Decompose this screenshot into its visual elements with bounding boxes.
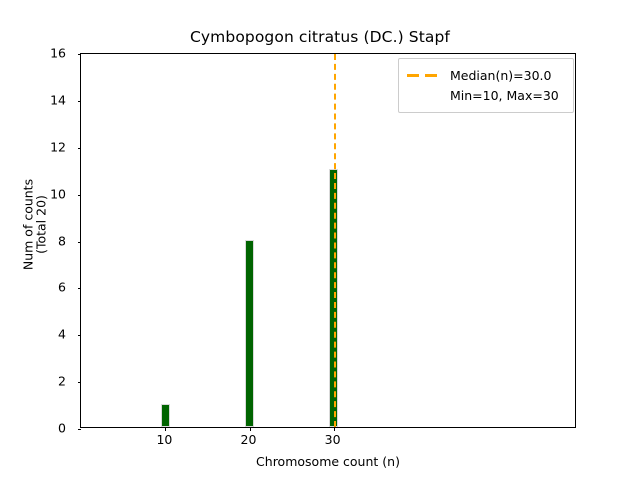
legend-entry-minmax: Min=10, Max=30 xyxy=(407,85,565,105)
y-tick-labels: 0 2 4 6 8 10 12 14 16 xyxy=(0,53,74,428)
y-tick-label: 14 xyxy=(50,92,66,107)
median-line xyxy=(334,54,336,427)
x-tick-labels: 10 20 30 xyxy=(80,432,576,452)
x-tick xyxy=(334,427,335,431)
dashed-line-icon xyxy=(407,68,441,82)
legend-entry-median: Median(n)=30.0 xyxy=(407,65,565,85)
x-tick-label: 20 xyxy=(241,432,257,447)
legend-label-median: Median(n)=30.0 xyxy=(450,68,551,83)
chart-figure: Cymbopogon citratus (DC.) Stapf Num of c… xyxy=(0,0,640,480)
y-tick-label: 12 xyxy=(50,139,66,154)
y-tick-label: 8 xyxy=(58,233,66,248)
x-tick xyxy=(165,427,166,431)
y-tick xyxy=(78,429,82,430)
legend: Median(n)=30.0 Min=10, Max=30 xyxy=(398,58,574,113)
y-tick-label: 2 xyxy=(58,374,66,389)
y-tick-label: 16 xyxy=(50,46,66,61)
x-tick-label: 30 xyxy=(325,432,341,447)
y-tick-label: 10 xyxy=(50,186,66,201)
x-tick-label: 10 xyxy=(156,432,172,447)
y-tick-label: 6 xyxy=(58,280,66,295)
legend-label-minmax: Min=10, Max=30 xyxy=(450,88,559,103)
x-tick xyxy=(250,427,251,431)
chart-title: Cymbopogon citratus (DC.) Stapf xyxy=(0,28,640,46)
y-tick-label: 4 xyxy=(58,327,66,342)
y-tick-label: 0 xyxy=(58,421,66,436)
x-axis-label: Chromosome count (n) xyxy=(80,454,576,469)
